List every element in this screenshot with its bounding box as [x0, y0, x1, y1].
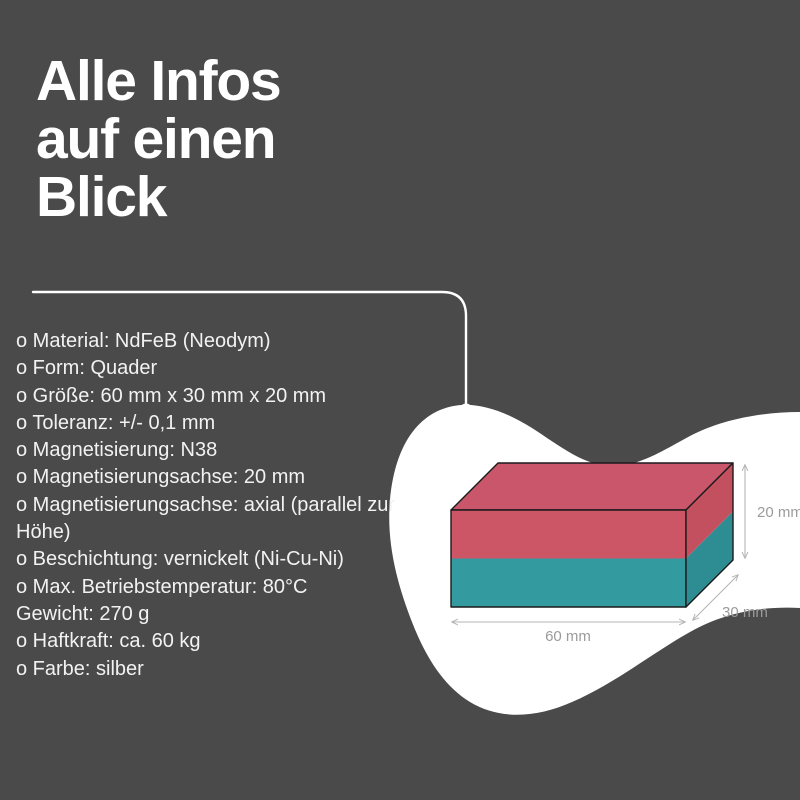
list-item: o Farbe: silber	[16, 656, 416, 683]
magnet-front-north	[451, 510, 686, 559]
list-item: o Größe: 60 mm x 30 mm x 20 mm	[16, 383, 416, 410]
list-item: o Haftkraft: ca. 60 kg	[16, 628, 416, 655]
height-dimension-label: 20 mm	[757, 504, 800, 521]
list-item: o Magnetisierungsachse: axial (parallel …	[16, 492, 416, 547]
list-item: o Max. Betriebstemperatur: 80°C	[16, 574, 416, 601]
list-item: o Magnetisierung: N38	[16, 437, 416, 464]
page-title-line-1: Alle Infos	[36, 52, 436, 110]
specification-list: o Material: NdFeB (Neodym) o Form: Quade…	[16, 328, 416, 683]
depth-dimension-label: 30 mm	[722, 604, 768, 621]
connector-endpoint-dot	[460, 404, 473, 417]
list-item: o Toleranz: +/- 0,1 mm	[16, 410, 416, 437]
list-item: o Material: NdFeB (Neodym)	[16, 328, 416, 355]
magnet-3d-diagram: 20 mm 30 mm 60 mm	[420, 430, 800, 660]
list-item: o Form: Quader	[16, 355, 416, 382]
list-item: Gewicht: 270 g	[16, 601, 416, 628]
infographic-page: Alle Infos auf einen Blick o Material: N…	[0, 0, 800, 800]
list-item: o Magnetisierungsachse: 20 mm	[16, 464, 416, 491]
list-item: o Beschichtung: vernickelt (Ni-Cu-Ni)	[16, 546, 416, 573]
magnet-top-face	[451, 463, 733, 510]
page-title-line-2: auf einen	[36, 110, 436, 168]
page-title-line-3: Blick	[36, 168, 436, 226]
width-dimension-label: 60 mm	[545, 628, 591, 645]
page-title: Alle Infos auf einen Blick	[36, 52, 436, 226]
magnet-front-south	[451, 559, 686, 608]
